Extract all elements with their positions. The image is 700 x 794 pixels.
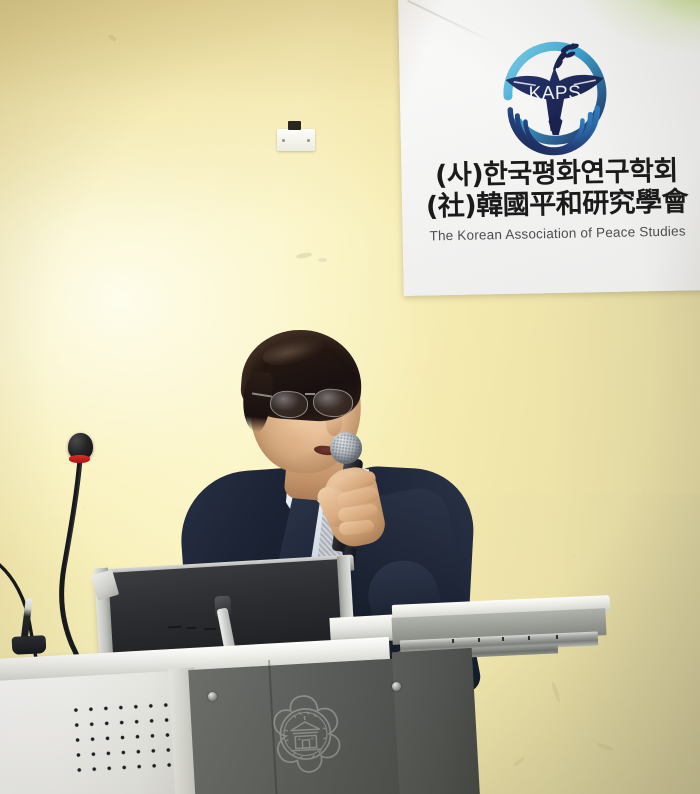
lectern-screw-left — [208, 692, 217, 701]
university-seal-emblem — [264, 690, 347, 778]
lectern — [0, 0, 700, 794]
rail-notch — [556, 635, 558, 639]
lectern-screw-right — [392, 682, 401, 691]
rail-notch — [528, 636, 530, 640]
rail-notch — [502, 637, 504, 641]
photo-scene: KAPS (사)한국평화연구학회 (社)韓國平和研究學會 The Korean … — [0, 0, 700, 794]
rail-notch — [478, 638, 480, 642]
pen-holder-base — [12, 635, 47, 655]
lectern-speaker-grille — [68, 697, 178, 777]
lectern-panel-dark-right — [392, 648, 480, 794]
rail-notch — [452, 639, 454, 643]
